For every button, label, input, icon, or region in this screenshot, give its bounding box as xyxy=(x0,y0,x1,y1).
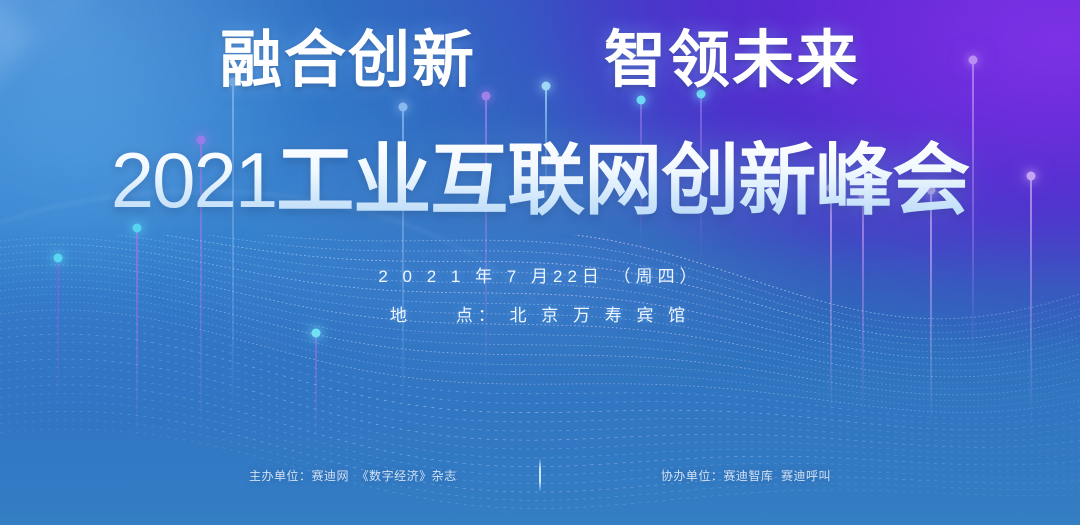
event-date: 2 0 2 1 年 7 月22日 （周四） xyxy=(0,262,1080,287)
wave-line xyxy=(0,318,1080,418)
organizer-footer: 主办单位：赛迪网 《数字经济》杂志 协办单位：赛迪智库 赛迪呼叫 xyxy=(0,458,1080,492)
pin-head-icon xyxy=(398,103,407,112)
wave-line xyxy=(0,359,1080,447)
cohost-organization: 协办单位：赛迪智库 赛迪呼叫 xyxy=(541,467,831,484)
summit-poster: 融合创新 智领未来 2021工业互联网创新峰会 2 0 2 1 年 7 月22日… xyxy=(0,0,1080,525)
page-title: 2021工业互联网创新峰会 xyxy=(0,140,1080,222)
title-year: 2021 xyxy=(111,136,277,224)
pin-head-icon xyxy=(132,224,141,233)
wave-line xyxy=(0,342,1080,435)
poster-headline: 融合创新 智领未来 xyxy=(0,30,1080,92)
event-venue: 地 点： 北 京 万 寿 宾 馆 xyxy=(0,301,1080,326)
wave-line xyxy=(0,376,1080,459)
event-meta: 2 0 2 1 年 7 月22日 （周四） 地 点： 北 京 万 寿 宾 馆 xyxy=(0,262,1080,326)
wave-line xyxy=(0,385,1080,467)
wave-line xyxy=(0,351,1080,442)
wave-line xyxy=(0,326,1080,424)
host-organization: 主办单位：赛迪网 《数字经济》杂志 xyxy=(249,467,539,484)
pin-head-icon xyxy=(636,96,645,105)
wave-line xyxy=(0,334,1080,430)
title-text: 工业互联网创新峰会 xyxy=(276,136,969,224)
